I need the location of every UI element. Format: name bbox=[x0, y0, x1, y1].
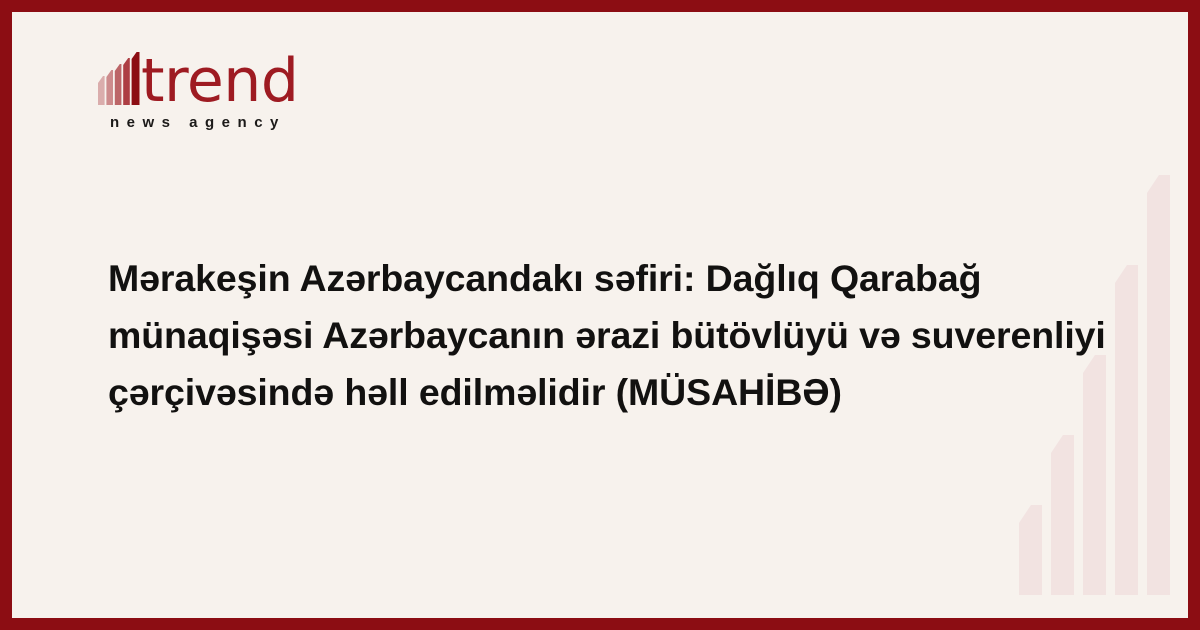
social-share-card: trend news agency Mərakeşin Azərbaycanda… bbox=[0, 0, 1200, 630]
watermark-bar-1 bbox=[1019, 505, 1042, 595]
logo-tagline: news agency bbox=[110, 114, 418, 131]
trend-bars-logomark bbox=[98, 49, 140, 105]
site-logo[interactable]: trend news agency bbox=[98, 45, 418, 131]
logo-wordmark: trend bbox=[141, 54, 298, 108]
watermark-bar-5 bbox=[1147, 175, 1170, 595]
watermark-bar-4 bbox=[1115, 265, 1138, 595]
logo-row: trend bbox=[98, 45, 418, 105]
watermark-bar-2 bbox=[1051, 435, 1074, 595]
headline-title: Mərakeşin Azərbaycandakı səfiri: Dağlıq … bbox=[108, 250, 1118, 421]
